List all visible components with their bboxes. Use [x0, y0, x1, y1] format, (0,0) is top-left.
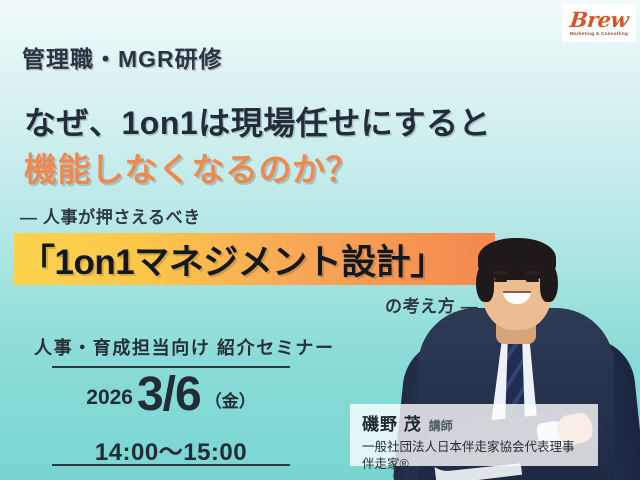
divider-bottom	[52, 464, 290, 466]
date-weekday: （金）	[205, 387, 256, 418]
seminar-banner: Brew Marketing & Consulting 管理職・MGR研修 なぜ…	[0, 0, 640, 480]
photo-eyebrow-right	[525, 271, 540, 274]
brew-logo: Brew Marketing & Consulting	[562, 4, 636, 42]
seminar-date: 2026 3/6 （金）	[46, 372, 296, 418]
speaker-name: 磯野 茂	[362, 410, 422, 435]
seminar-target: 人事・育成担当向け 紹介セミナー	[34, 334, 335, 360]
speaker-caption-panel: 磯野 茂 講師 一般社団法人日本伴走家協会代表理事 伴走家®	[350, 404, 598, 466]
logo-wordmark: Brew	[569, 9, 629, 30]
photo-eye-left	[494, 279, 507, 282]
date-day: 3/6	[133, 372, 205, 418]
highlight-title: 「1on1マネジメント設計」	[14, 234, 445, 285]
speaker-org-line-1: 一般社団法人日本伴走家協会代表理事	[362, 439, 588, 456]
photo-eye-right	[526, 279, 539, 282]
speaker-name-row: 磯野 茂 講師	[362, 410, 588, 435]
eyebrow-label: 管理職・MGR研修	[22, 40, 223, 74]
speaker-role: 講師	[429, 417, 453, 434]
seminar-time: 14:00〜15:00	[46, 432, 296, 467]
speaker-org-line-2: 伴走家®	[362, 456, 588, 473]
date-year: 2026	[86, 386, 133, 418]
photo-hair-left	[476, 262, 494, 302]
photo-hair-right	[540, 262, 558, 302]
headline-line-1: なぜ、1on1は現場任せにすると	[24, 98, 491, 144]
headline-line-2: 機能しなくなるのか？	[24, 143, 359, 191]
photo-eyebrow-left	[493, 271, 508, 274]
logo-tagline: Marketing & Consulting	[570, 32, 628, 37]
sub-lead-text: ― 人事が押さえるべき	[20, 203, 201, 228]
